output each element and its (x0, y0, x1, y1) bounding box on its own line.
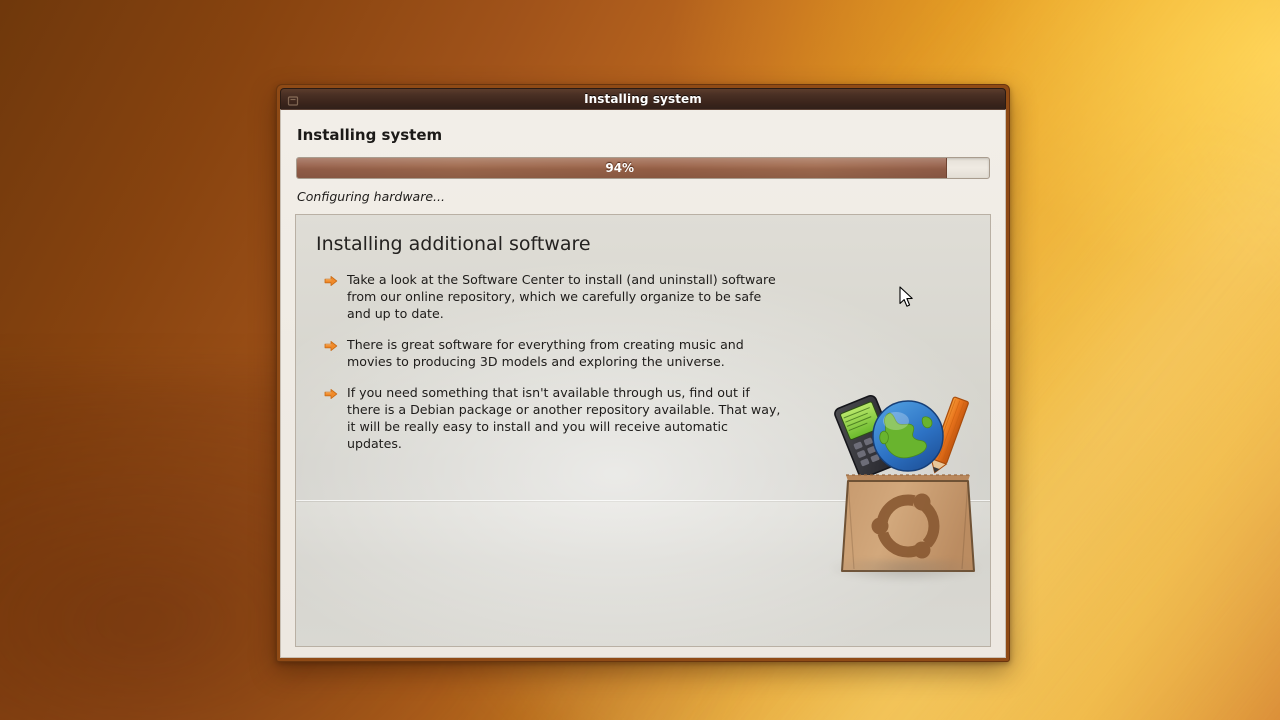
page-title: Installing system (297, 126, 991, 144)
window-body: Installing system 94% Configuring hardwa… (280, 109, 1006, 658)
list-item-text: There is great software for everything f… (347, 336, 786, 370)
ubuntu-software-bag-illustration (828, 391, 988, 586)
list-item: Take a look at the Software Center to in… (316, 271, 786, 322)
progress-row: 94% (295, 157, 991, 179)
slideshow-panel: Installing additional software Take a lo… (295, 214, 991, 647)
list-item-text: Take a look at the Software Center to in… (347, 271, 786, 322)
globe-icon (873, 401, 943, 471)
progress-status-text: Configuring hardware... (297, 189, 991, 204)
slideshow-title: Installing additional software (316, 233, 970, 255)
list-item: There is great software for everything f… (316, 336, 786, 370)
installer-window: Installing system Installing system 94% … (276, 84, 1010, 662)
bag-shadow (830, 559, 982, 583)
arrow-right-icon (324, 386, 338, 400)
desktop-background: Installing system Installing system 94% … (0, 0, 1280, 720)
progress-percent-label: 94% (605, 161, 634, 175)
progress-bar-fill: 94% (297, 158, 947, 178)
list-item: If you need something that isn't availab… (316, 384, 786, 452)
list-item-text: If you need something that isn't availab… (347, 384, 786, 452)
progress-bar: 94% (296, 157, 990, 179)
window-titlebar[interactable]: Installing system (280, 88, 1006, 109)
arrow-right-icon (324, 338, 338, 352)
arrow-right-icon (324, 273, 338, 287)
window-title: Installing system (584, 92, 702, 106)
window-menu-icon[interactable] (287, 93, 300, 106)
